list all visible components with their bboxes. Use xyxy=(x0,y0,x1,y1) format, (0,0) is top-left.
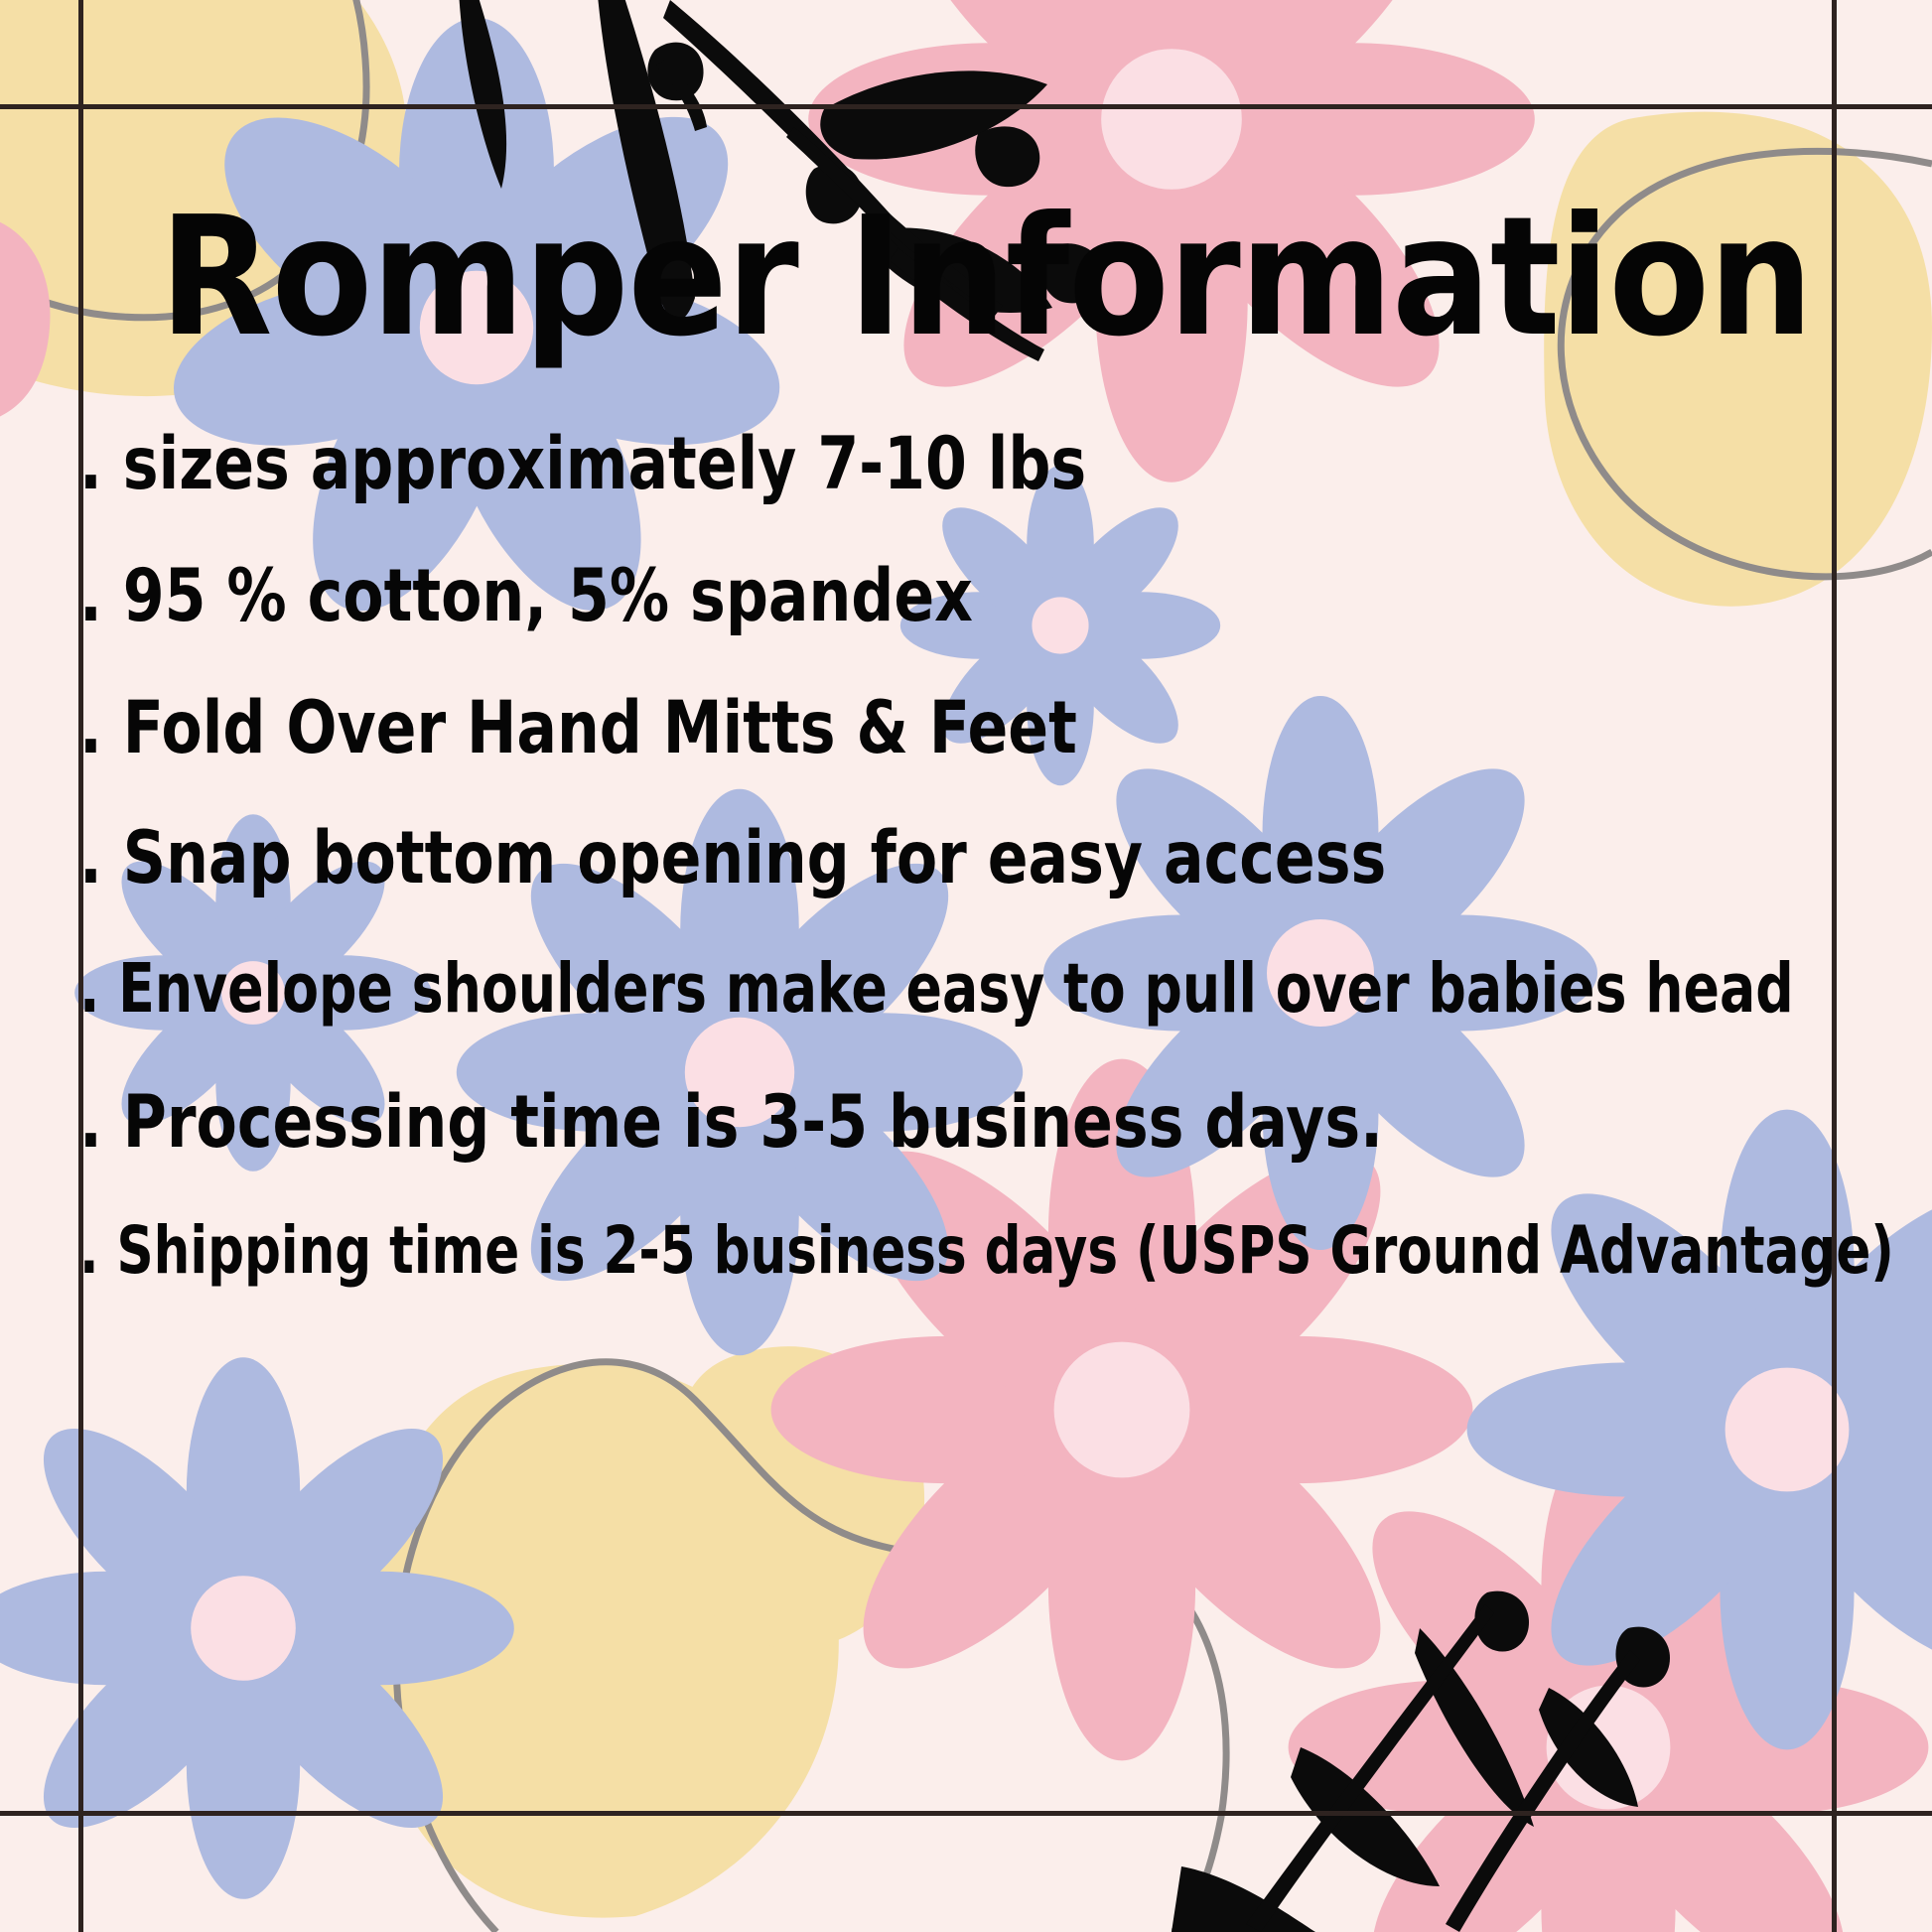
list-item: . Envelope shoulders make easy to pull o… xyxy=(79,950,1795,1029)
list-item: . sizes approximately 7-10 lbs xyxy=(79,420,1813,505)
list-item: . 95 % cotton, 5% spandex xyxy=(79,552,1813,637)
list-item: . Fold Over Hand Mitts & Feet xyxy=(79,684,1813,769)
frame-line-top xyxy=(0,104,1932,109)
poster-canvas: Romper Information . sizes approximately… xyxy=(0,0,1932,1932)
list-item: . Processing time is 3-5 business days. xyxy=(79,1078,1813,1164)
list-item: . Shipping time is 2-5 business days (US… xyxy=(79,1212,1786,1289)
info-bullet-list: . sizes approximately 7-10 lbs . 95 % co… xyxy=(79,427,1866,1282)
page-title: Romper Information xyxy=(0,195,1932,359)
frame-line-bottom xyxy=(0,1811,1932,1816)
list-item: . Snap bottom opening for easy access xyxy=(79,814,1813,899)
